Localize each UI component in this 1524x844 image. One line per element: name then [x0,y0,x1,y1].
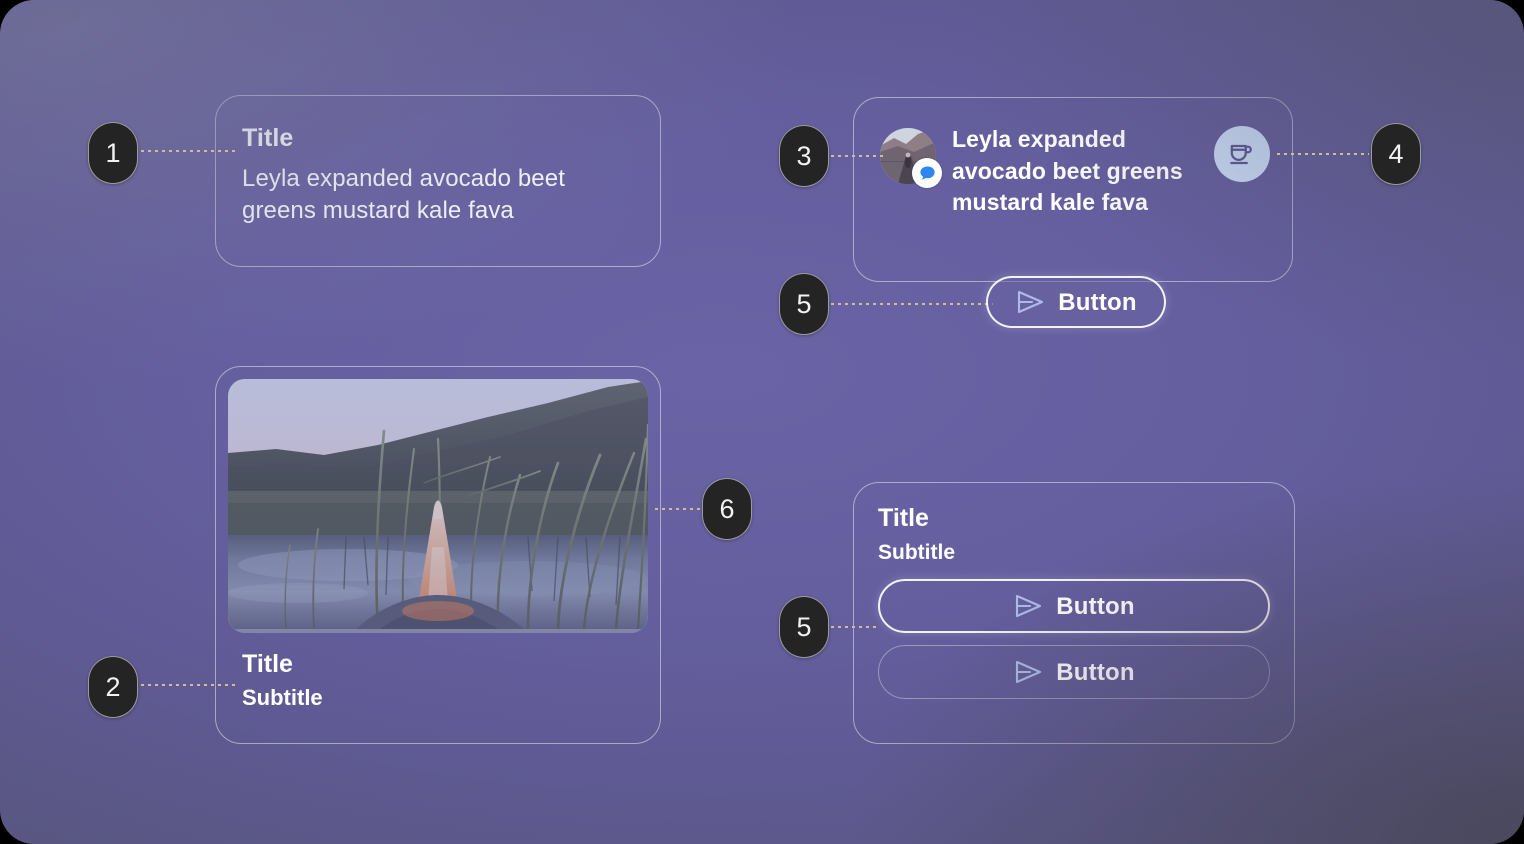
media-card[interactable]: Title Subtitle [215,366,661,744]
callout-badge-3: 3 [779,125,829,187]
avatar-card-text: Leyla expanded avocado beet greens musta… [952,122,1198,219]
action-card: Title Subtitle Button Button [853,482,1295,744]
send-icon [1013,659,1043,685]
action-button-primary-label: Button [1056,595,1135,619]
card-text-title: Title [242,124,634,153]
chat-bubble-icon [912,158,942,188]
text-card: Title Leyla expanded avocado beet greens… [215,95,661,267]
connector-1 [141,150,235,152]
connector-2 [141,684,237,686]
send-icon [1013,593,1043,619]
callout-badge-1: 1 [88,122,138,184]
media-card-thumbnail[interactable] [228,379,648,633]
floating-button[interactable]: Button [986,276,1166,328]
annotation-canvas: Title Leyla expanded avocado beet greens… [0,0,1524,844]
action-button-secondary-label: Button [1056,661,1135,685]
coffee-cup-icon [1227,139,1257,169]
connector-3 [831,155,887,157]
avatar-card: Leyla expanded avocado beet greens musta… [853,97,1293,282]
callout-badge-5-row: 5 [779,596,829,658]
callout-badge-2: 2 [88,656,138,718]
action-card-title: Title [878,505,1270,533]
thumbnail-tint-overlay [228,379,648,633]
media-card-subtitle: Subtitle [242,685,634,710]
connector-5-row [831,626,879,628]
callout-badge-5-float: 5 [779,273,829,335]
action-button-primary[interactable]: Button [878,579,1270,633]
action-button-secondary[interactable]: Button [878,645,1270,699]
callout-badge-4: 4 [1371,123,1421,185]
connector-6 [655,508,701,510]
chat-bubble-glyph [918,164,937,183]
callout-badge-6: 6 [702,478,752,540]
connector-4 [1277,153,1369,155]
send-icon [1015,289,1045,315]
connector-5-float [831,303,993,305]
avatar-card-trailing-icon[interactable] [1214,126,1270,182]
avatar-card-leading-avatar[interactable] [880,128,936,184]
action-card-subtitle: Subtitle [878,541,1270,565]
media-card-title: Title [242,651,634,679]
media-card-meta: Title Subtitle [228,633,648,710]
floating-button-label: Button [1058,291,1137,315]
card-text-body: Leyla expanded avocado beet greens musta… [242,163,634,228]
